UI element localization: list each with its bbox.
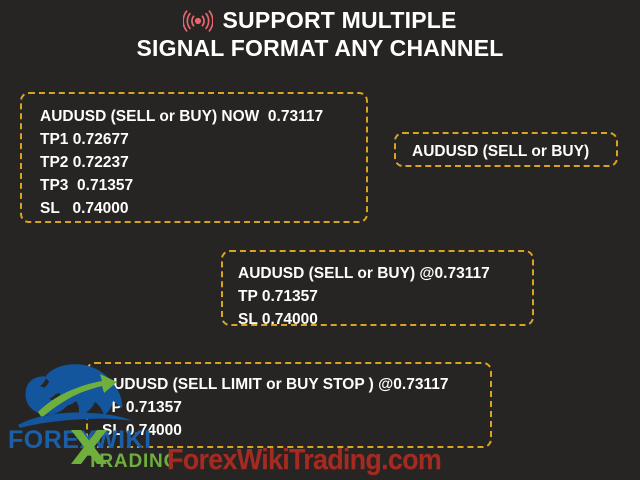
signal-line: TP2 0.72237 bbox=[40, 151, 366, 174]
logo-wordmark: FOREX WIKI TRADING bbox=[8, 424, 173, 470]
signal-line: TP1 0.72677 bbox=[40, 128, 366, 151]
promo-banner: SUPPORT MULTIPLE SIGNAL FORMAT ANY CHANN… bbox=[0, 0, 640, 480]
bull-bear-arrow-icon bbox=[16, 362, 134, 430]
signal-line: AUDUSD (SELL or BUY) @0.73117 bbox=[238, 262, 532, 285]
header-title-line-1: SUPPORT MULTIPLE bbox=[222, 6, 456, 34]
signal-line: SL 0.74000 bbox=[40, 197, 366, 220]
logo-word-trading: TRADING bbox=[87, 451, 173, 470]
signal-format-box-minimal: AUDUSD (SELL or BUY) bbox=[394, 132, 618, 167]
header-line-1: SUPPORT MULTIPLE bbox=[0, 6, 640, 34]
signal-format-box-full: AUDUSD (SELL or BUY) NOW 0.73117 TP1 0.7… bbox=[20, 92, 368, 223]
banner-header: SUPPORT MULTIPLE SIGNAL FORMAT ANY CHANN… bbox=[0, 6, 640, 62]
header-title-line-2: SIGNAL FORMAT ANY CHANNEL bbox=[0, 34, 640, 62]
signal-line: AUDUSD (SELL or BUY) NOW 0.73117 bbox=[40, 105, 366, 128]
watermark-url: ForexWikiTrading.com bbox=[167, 444, 441, 477]
broadcast-signal-icon bbox=[183, 9, 213, 33]
signal-line: AUDUSD (SELL or BUY) bbox=[412, 140, 616, 163]
signal-line: TP 0.71357 bbox=[238, 285, 532, 308]
signal-line: SL 0.74000 bbox=[238, 308, 532, 331]
forex-wiki-trading-logo: FOREX WIKI TRADING bbox=[8, 362, 173, 474]
signal-format-box-price-entry: AUDUSD (SELL or BUY) @0.73117 TP 0.71357… bbox=[221, 250, 534, 326]
signal-line: TP3 0.71357 bbox=[40, 174, 366, 197]
